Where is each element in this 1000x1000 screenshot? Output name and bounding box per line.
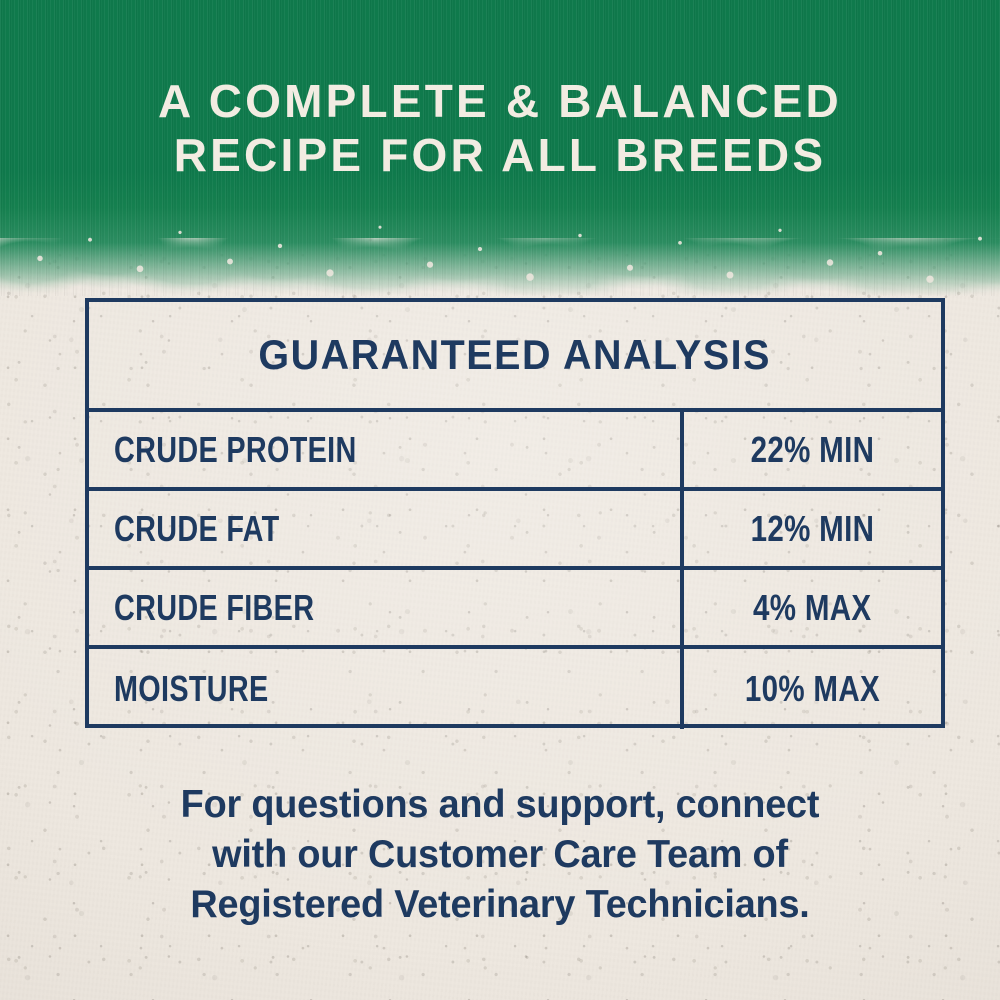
- guaranteed-analysis-title-row: GUARANTEED ANALYSIS: [89, 302, 941, 412]
- customer-care-note: For questions and support, connect with …: [60, 780, 940, 930]
- guaranteed-analysis-title: GUARANTEED ANALYSIS: [259, 331, 772, 379]
- nutrient-value-cell: 4% MAX: [684, 570, 941, 645]
- page-title: A COMPLETE & BALANCED RECIPE FOR ALL BRE…: [0, 74, 1000, 182]
- nutrient-label-cell: MOISTURE: [89, 649, 684, 729]
- table-row: CRUDE PROTEIN 22% MIN: [89, 412, 941, 491]
- customer-care-note-line-3: Registered Veterinary Technicians.: [73, 880, 927, 930]
- nutrient-value-text: 10% MAX: [745, 668, 880, 710]
- table-row: CRUDE FAT 12% MIN: [89, 491, 941, 570]
- nutrient-value-text: 4% MAX: [753, 587, 871, 629]
- nutrient-value-cell: 10% MAX: [684, 649, 941, 729]
- nutrient-value-text: 12% MIN: [751, 508, 875, 550]
- nutrient-value-text: 22% MIN: [751, 429, 875, 471]
- nutrient-value-cell: 22% MIN: [684, 412, 941, 487]
- page-title-line-2: RECIPE FOR ALL BREEDS: [0, 128, 1000, 182]
- nutrient-label-text: CRUDE PROTEIN: [114, 429, 357, 471]
- customer-care-note-line-1: For questions and support, connect: [73, 780, 927, 830]
- customer-care-note-line-2: with our Customer Care Team of: [73, 830, 927, 880]
- nutrient-label-cell: CRUDE FIBER: [89, 570, 684, 645]
- nutrient-label-cell: CRUDE FAT: [89, 491, 684, 566]
- nutrient-label-cell: CRUDE PROTEIN: [89, 412, 684, 487]
- table-row: MOISTURE 10% MAX: [89, 649, 941, 729]
- nutrient-value-cell: 12% MIN: [684, 491, 941, 566]
- guaranteed-analysis-table: GUARANTEED ANALYSIS CRUDE PROTEIN 22% MI…: [85, 298, 945, 728]
- nutrient-label-text: MOISTURE: [114, 668, 269, 710]
- page-title-line-1: A COMPLETE & BALANCED: [0, 74, 1000, 128]
- nutrient-label-text: CRUDE FAT: [114, 508, 280, 550]
- product-info-panel: A COMPLETE & BALANCED RECIPE FOR ALL BRE…: [0, 0, 1000, 1000]
- table-row: CRUDE FIBER 4% MAX: [89, 570, 941, 649]
- nutrient-label-text: CRUDE FIBER: [114, 587, 314, 629]
